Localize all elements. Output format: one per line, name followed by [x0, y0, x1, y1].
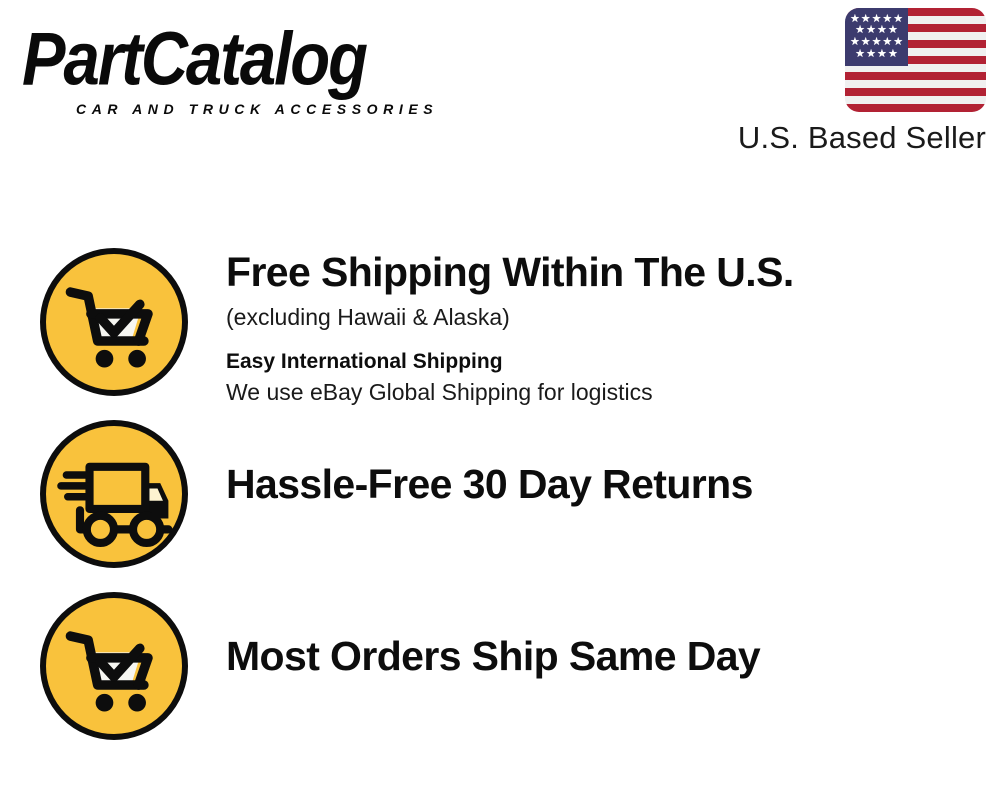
logo-wordmark: PartCatalog [22, 22, 501, 96]
feature-item: Most Orders Ship Same Day [40, 592, 760, 740]
us-based-seller-label: U.S. Based Seller [738, 120, 986, 156]
feature-text-block: Hassle-Free 30 Day Returns [188, 420, 753, 506]
feature-subtext: (excluding Hawaii & Alaska) [226, 302, 794, 334]
feature-item: Free Shipping Within The U.S. (excluding… [40, 248, 794, 408]
feature-subtext-strong: Easy International Shipping [226, 348, 794, 375]
shopping-cart-check-glyph [46, 254, 182, 390]
brand-logo: PartCatalog CAR AND TRUCK ACCESSORIES [22, 22, 492, 117]
shopping-cart-check-icon [40, 592, 188, 740]
feature-text-block: Most Orders Ship Same Day [188, 592, 760, 678]
feature-item: Hassle-Free 30 Day Returns [40, 420, 753, 568]
flag-canton: ★★★★★ ★★★★ ★★★★★ ★★★★ [845, 8, 908, 66]
feature-heading: Most Orders Ship Same Day [226, 634, 760, 678]
flag-star-row: ★★★★★ [849, 14, 904, 25]
feature-heading: Free Shipping Within The U.S. [226, 250, 794, 294]
feature-heading: Hassle-Free 30 Day Returns [226, 462, 753, 506]
logo-tagline: CAR AND TRUCK ACCESSORIES [22, 101, 492, 117]
shopping-cart-check-icon [40, 248, 188, 396]
delivery-truck-icon [40, 420, 188, 568]
feature-text-block: Free Shipping Within The U.S. (excluding… [188, 248, 794, 408]
us-based-seller-badge: ★★★★★ ★★★★ ★★★★★ ★★★★ U.S. Based Seller [696, 8, 986, 156]
flag-star-row: ★★★★ [849, 49, 904, 60]
promo-banner: PartCatalog CAR AND TRUCK ACCESSORIES [0, 0, 1000, 800]
shopping-cart-check-glyph [46, 598, 182, 734]
delivery-truck-glyph [46, 426, 182, 562]
banner-header: PartCatalog CAR AND TRUCK ACCESSORIES [0, 0, 1000, 175]
flag-star-row: ★★★★★ [849, 37, 904, 48]
us-flag-icon: ★★★★★ ★★★★ ★★★★★ ★★★★ [845, 8, 986, 112]
flag-star-row: ★★★★ [849, 25, 904, 36]
feature-subtext-secondary: We use eBay Global Shipping for logistic… [226, 377, 794, 407]
